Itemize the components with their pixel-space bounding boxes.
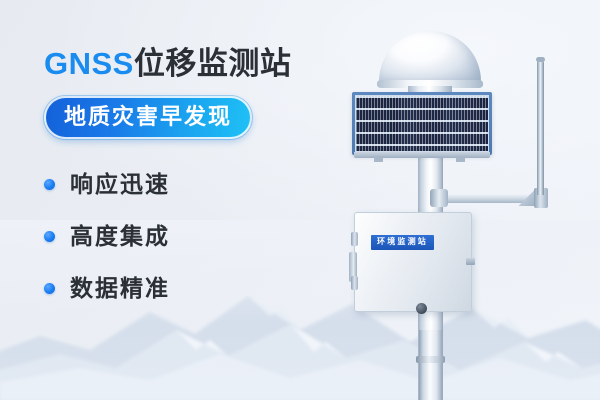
feature-label: 高度集成 [70, 225, 170, 248]
enclosure-sensor-port [416, 303, 427, 314]
bullet-dot-icon [44, 231, 55, 242]
solar-panel [352, 92, 492, 155]
gnss-antenna-dome-icon [379, 31, 481, 85]
support-mast-lower [419, 330, 442, 400]
solar-panel-cells [355, 95, 489, 152]
page-title: GNSS位移监测站 [44, 48, 364, 79]
status-badge: 地质灾害早发现 [44, 96, 252, 139]
list-item: 高度集成 [44, 225, 364, 248]
enclosure-latch [466, 258, 475, 265]
copy-block: GNSS位移监测站 地质灾害早发现 响应迅速 高度集成 数据精准 [44, 48, 364, 329]
enclosure-brand-label: 环境监测站 [371, 235, 434, 250]
list-item: 数据精准 [44, 277, 364, 300]
bullet-dot-icon [44, 283, 55, 294]
title-brand: GNSS [44, 46, 134, 81]
monitoring-enclosure: 环境监测站 [354, 212, 472, 312]
title-suffix: 位移监测站 [134, 46, 292, 81]
solar-panel-bracket-right [456, 156, 465, 162]
tagline-badge-wrap: 地质灾害早发现 [44, 96, 252, 139]
bullet-dot-icon [44, 179, 55, 190]
promo-banner: 环境监测站 GNSS位移监测站 地质灾害早发现 响应迅速 高度集成 [0, 0, 600, 400]
whip-antenna-cap [536, 57, 545, 62]
feature-label: 数据精准 [70, 277, 170, 300]
solar-panel-bracket-left [374, 156, 383, 162]
feature-list: 响应迅速 高度集成 数据精准 [44, 173, 364, 300]
whip-antenna [537, 60, 544, 195]
list-item: 响应迅速 [44, 173, 364, 196]
feature-label: 响应迅速 [70, 173, 170, 196]
mast-joint [416, 356, 445, 363]
gnss-monitoring-station-illustration: 环境监测站 [330, 0, 600, 400]
antenna-arm-mast-clamp [430, 189, 448, 207]
